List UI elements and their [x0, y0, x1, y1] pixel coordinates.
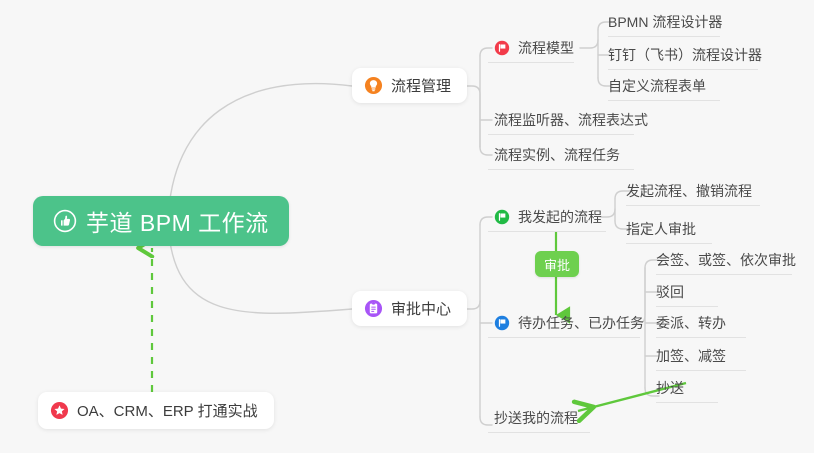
leaf-rule: [608, 36, 720, 37]
node-label: 钉钉（飞书）流程设计器: [608, 45, 762, 65]
footnote-integration-note[interactable]: OA、CRM、ERP 打通实战: [38, 392, 274, 429]
leaf-rule: [488, 337, 640, 338]
leaf-rule: [608, 100, 720, 101]
leaf-rule: [656, 402, 718, 403]
node-label: 驳回: [656, 282, 684, 302]
node-label: 待办任务、已办任务: [518, 313, 644, 333]
node-reject[interactable]: 驳回: [652, 278, 692, 306]
flag-icon: [494, 40, 510, 56]
flag-icon: [494, 315, 510, 331]
root-node[interactable]: 芋道 BPM 工作流: [33, 196, 289, 246]
branch-label: 流程管理: [391, 75, 451, 96]
node-dingtalk-feishu-designer[interactable]: 钉钉（飞书）流程设计器: [604, 41, 770, 69]
leaf-rule: [626, 243, 712, 244]
node-label: 我发起的流程: [518, 207, 602, 227]
node-label: 流程监听器、流程表达式: [494, 110, 648, 130]
node-cc-to-me-processes[interactable]: 抄送我的流程: [490, 404, 586, 432]
node-delegate-transfer[interactable]: 委派、转办: [652, 309, 734, 337]
footnote-label: OA、CRM、ERP 打通实战: [77, 400, 258, 421]
node-my-started-processes[interactable]: 我发起的流程: [492, 203, 610, 231]
node-countersign[interactable]: 会签、或签、依次审批: [652, 246, 804, 274]
node-todo-done-tasks[interactable]: 待办任务、已办任务: [492, 309, 652, 337]
node-assignee-approval[interactable]: 指定人审批: [622, 215, 704, 243]
mindmap-canvas: 芋道 BPM 工作流 流程管理 流程模型 BPMN 流程设计器 钉钉（飞书）流程…: [0, 0, 814, 453]
node-bpmn-designer[interactable]: BPMN 流程设计器: [604, 8, 730, 36]
node-label: 自定义流程表单: [608, 76, 706, 96]
leaf-rule: [488, 169, 634, 170]
node-label: 抄送我的流程: [494, 408, 578, 428]
node-label: 指定人审批: [626, 219, 696, 239]
leaf-rule: [656, 337, 746, 338]
node-label: BPMN 流程设计器: [608, 12, 722, 32]
node-process-listener-expression[interactable]: 流程监听器、流程表达式: [490, 106, 656, 134]
node-custom-process-form[interactable]: 自定义流程表单: [604, 72, 714, 100]
leaf-rule: [656, 274, 792, 275]
leaf-rule: [608, 69, 758, 70]
node-label: 发起流程、撤销流程: [626, 181, 752, 201]
node-process-model[interactable]: 流程模型: [492, 34, 582, 62]
leaf-rule: [656, 306, 718, 307]
node-label: 会签、或签、依次审批: [656, 250, 796, 270]
thumbs-up-icon: [53, 209, 77, 233]
branch-process-management[interactable]: 流程管理: [352, 68, 467, 103]
lightbulb-icon: [364, 76, 383, 95]
node-start-cancel-process[interactable]: 发起流程、撤销流程: [622, 177, 760, 205]
star-icon: [50, 401, 69, 420]
branch-approval-center[interactable]: 审批中心: [352, 291, 467, 326]
leaf-rule: [656, 370, 746, 371]
flag-icon: [494, 209, 510, 225]
node-add-remove-sign[interactable]: 加签、减签: [652, 342, 734, 370]
node-label: 流程模型: [518, 38, 574, 58]
branch-label: 审批中心: [391, 298, 451, 319]
node-label: 抄送: [656, 378, 684, 398]
leaf-rule: [488, 134, 634, 135]
clipboard-icon: [364, 299, 383, 318]
tag-label: 审批: [544, 255, 570, 274]
leaf-rule: [488, 231, 606, 232]
node-label: 委派、转办: [656, 313, 726, 333]
leaf-rule: [488, 62, 574, 63]
node-cc[interactable]: 抄送: [652, 374, 692, 402]
node-label: 加签、减签: [656, 346, 726, 366]
node-process-instance-task[interactable]: 流程实例、流程任务: [490, 141, 628, 169]
leaf-rule: [488, 432, 590, 433]
approval-tag[interactable]: 审批: [535, 251, 579, 277]
leaf-rule: [626, 205, 760, 206]
node-label: 流程实例、流程任务: [494, 145, 620, 165]
root-label: 芋道 BPM 工作流: [86, 204, 269, 238]
